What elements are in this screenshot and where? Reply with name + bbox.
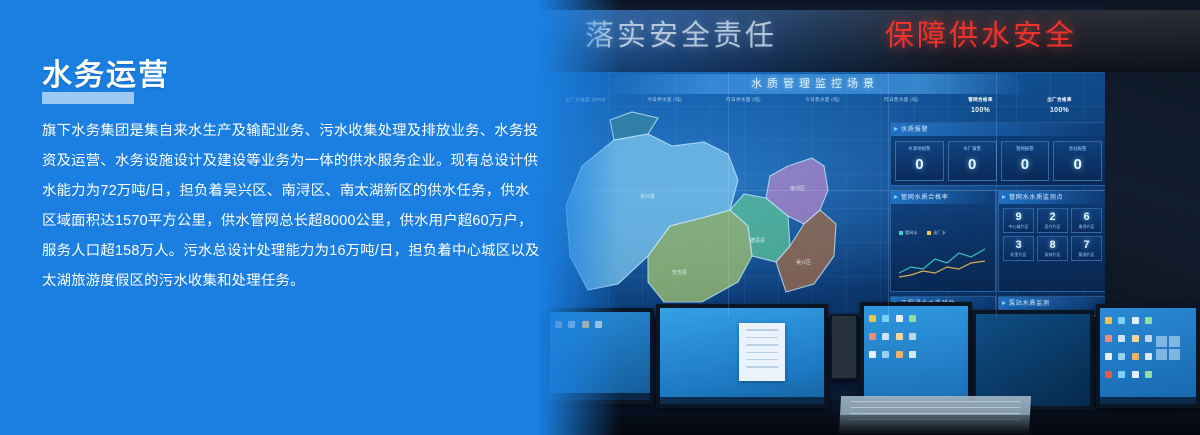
monitor-screen (1100, 308, 1196, 404)
alarm-card-value: 0 (949, 156, 996, 173)
monitoring-point-cell[interactable]: 2 吴兴片区 (1037, 208, 1068, 233)
taskbar[interactable] (660, 397, 824, 404)
point-label: 吴兴片区 (1038, 224, 1067, 230)
monitor-center-right (860, 302, 972, 410)
point-value: 8 (1038, 240, 1067, 251)
description-text: 旗下水务集团是集自来水生产及输配业务、污水收集处理及排放业务、水务投资及运营、水… (42, 116, 540, 296)
desktop-icon (896, 351, 903, 358)
desktop-icon (1145, 371, 1152, 378)
desktop-icon (1118, 335, 1125, 342)
chart-legend: 管网水 出厂水 (899, 230, 946, 236)
alarm-card[interactable]: 泵站报警 0 (1053, 141, 1102, 181)
desktop-icon (909, 315, 916, 322)
monitor-screen (864, 306, 968, 406)
monitor-screen (976, 314, 1090, 406)
alarm-card-label: 水厂报警 (949, 146, 996, 152)
kpi-label: 今日售水量 (吨) (805, 97, 840, 102)
desktop-icon (1145, 335, 1152, 342)
point-label: 织里片区 (1004, 252, 1033, 258)
alarm-card-value: 0 (1054, 156, 1101, 173)
svg-text:南浔区: 南浔区 (790, 185, 805, 192)
banner-slide: 落实安全责任 保障供水安全 水质管理监控场景 出厂水浊度 (NTU) 今日供水量… (0, 0, 1200, 435)
description-paragraph: 旗下水务集团是集自来水生产及输配业务、污水收集处理及排放业务、水务投资及运营、水… (42, 116, 540, 296)
desktop-icon (1118, 317, 1125, 324)
kpi-label: 昨日售水量 (吨) (884, 97, 919, 102)
kpi-item: 今日售水量 (吨) (785, 96, 860, 104)
legend-swatch-network (899, 231, 903, 235)
kpi-value: 100% (1022, 107, 1097, 115)
desktop-icon-grid (868, 310, 930, 364)
svg-text:吴兴区: 吴兴区 (796, 259, 811, 266)
desktop-icon (1132, 353, 1139, 360)
title-underline (42, 92, 134, 104)
alarm-card[interactable]: 水源地报警 0 (895, 141, 944, 181)
monitor-windows-desktop (1096, 304, 1200, 408)
svg-text:安吉县: 安吉县 (672, 269, 687, 276)
panel-title: 管网水水质监测点 (999, 191, 1105, 204)
alarm-card-label: 管网报警 (1002, 146, 1049, 152)
kpi-item: 今日供水量 (吨) (627, 96, 702, 104)
monitoring-point-cell[interactable]: 3 织里片区 (1003, 236, 1034, 261)
desktop-icon (882, 333, 889, 340)
kpi-item: 昨日供水量 (吨) (706, 96, 781, 104)
kpi-label: 出厂合格率 (1047, 97, 1071, 102)
document-window[interactable] (739, 323, 785, 381)
desktop-icon (869, 333, 876, 340)
desktop-icon (1105, 335, 1112, 342)
alarm-card-label: 泵站报警 (1054, 146, 1101, 152)
kpi-item-plant-rate: 出厂合格率 100% (1022, 96, 1097, 115)
point-value: 9 (1004, 212, 1033, 223)
desktop-icon (1118, 371, 1125, 378)
operator-monitors (540, 300, 1200, 435)
alarm-card-value: 0 (896, 156, 943, 173)
alarm-card[interactable]: 水厂报警 0 (948, 141, 997, 181)
legend-swatch-plant (927, 231, 931, 235)
desktop-icon (1105, 317, 1112, 324)
monitoring-point-cell[interactable]: 6 南浔片区 (1071, 208, 1102, 233)
page-title: 水务运营 (42, 50, 170, 94)
svg-text:长兴县: 长兴县 (640, 193, 655, 200)
monitor-center-left (656, 304, 828, 408)
point-value: 3 (1004, 240, 1033, 251)
desktop-icon (1132, 371, 1139, 378)
desktop-icon (882, 351, 889, 358)
taskbar[interactable] (1100, 397, 1196, 404)
info-panel: 水务运营 旗下水务集团是集自来水生产及输配业务、污水收集处理及排放业务、水务投资… (0, 0, 620, 435)
kpi-item-network-rate: 管网合格率 100% (943, 96, 1018, 115)
point-value: 6 (1072, 212, 1101, 223)
kpi-strip: 出厂水浊度 (NTU) 今日供水量 (吨) 昨日供水量 (吨) 今日售水量 (吨… (548, 96, 1097, 122)
desktop-icon (1132, 335, 1139, 342)
desktop-icon (882, 315, 889, 322)
point-label: 中心城片区 (1004, 224, 1033, 230)
point-label: 双林片区 (1038, 252, 1067, 258)
alarm-card[interactable]: 管网报警 0 (1001, 141, 1050, 181)
video-wall-dashboard: 水质管理监控场景 出厂水浊度 (NTU) 今日供水量 (吨) 昨日供水量 (吨)… (540, 72, 1105, 317)
panel-title: 管网水质合格率 (891, 191, 995, 204)
kpi-label: 今日供水量 (吨) (647, 97, 682, 102)
kpi-item: 昨日售水量 (吨) (864, 96, 939, 104)
desktop-icon (909, 333, 916, 340)
kpi-label: 昨日供水量 (吨) (726, 97, 761, 102)
desk-shadow (540, 415, 1200, 435)
desktop-icon (869, 351, 876, 358)
desktop-icon (896, 315, 903, 322)
alarm-card-grid: 水源地报警 0 水厂报警 0 管网报警 0 泵站报警 (891, 136, 1105, 186)
monitor-screen (660, 308, 824, 404)
point-value: 2 (1038, 212, 1067, 223)
alarm-card-value: 0 (1002, 156, 1049, 173)
control-room-photo: 落实安全责任 保障供水安全 水质管理监控场景 出厂水浊度 (NTU) 今日供水量… (540, 0, 1200, 435)
panel-monitoring-points[interactable]: 管网水水质监测点 9 中心城片区 2 吴兴片区 6 南浔片区 (998, 190, 1105, 292)
desktop-icon (909, 351, 916, 358)
monitoring-point-grid: 9 中心城片区 2 吴兴片区 6 南浔片区 3 (999, 204, 1105, 265)
legend-label-plant: 出厂水 (933, 230, 946, 235)
monitoring-point-cell[interactable]: 9 中心城片区 (1003, 208, 1034, 233)
desktop-icon (1145, 353, 1152, 360)
point-label: 南浔片区 (1072, 224, 1101, 230)
kpi-value: 100% (943, 107, 1018, 115)
panel-title: 水质报警 (891, 123, 1105, 136)
desktop-icon (1132, 317, 1139, 324)
monitor-underwater-view (972, 310, 1094, 410)
alarm-card-label: 水源地报警 (896, 146, 943, 152)
panel-water-quality-alarm[interactable]: 水质报警 水源地报警 0 水厂报警 0 管网报警 0 (890, 122, 1105, 186)
point-label: 菱湖片区 (1072, 252, 1101, 258)
desktop-icon (1145, 317, 1152, 324)
monitor-edge-on (830, 314, 858, 380)
desktop-icon (1118, 353, 1125, 360)
monitoring-point-cell[interactable]: 7 菱湖片区 (1071, 236, 1102, 261)
desktop-icon (1105, 371, 1112, 378)
rate-sparkline (897, 237, 987, 283)
desktop-icon (896, 333, 903, 340)
monitoring-point-cell[interactable]: 8 双林片区 (1037, 236, 1068, 261)
dashboard-title: 水质管理监控场景 (600, 74, 1030, 94)
kpi-label: 管网合格率 (968, 97, 992, 102)
panel-network-quality-rate[interactable]: 管网水质合格率 管网水 出厂水 (890, 190, 996, 292)
led-slogan-right: 保障供水安全 (885, 12, 1077, 54)
point-value: 7 (1072, 240, 1101, 251)
windows-logo-icon (1156, 336, 1182, 362)
rate-chart-body: 管网水 出厂水 (891, 204, 995, 289)
legend-label-network: 管网水 (905, 230, 918, 235)
desktop-icon (1105, 353, 1112, 360)
desktop-icon (869, 315, 876, 322)
svg-text:德清县: 德清县 (750, 237, 765, 244)
